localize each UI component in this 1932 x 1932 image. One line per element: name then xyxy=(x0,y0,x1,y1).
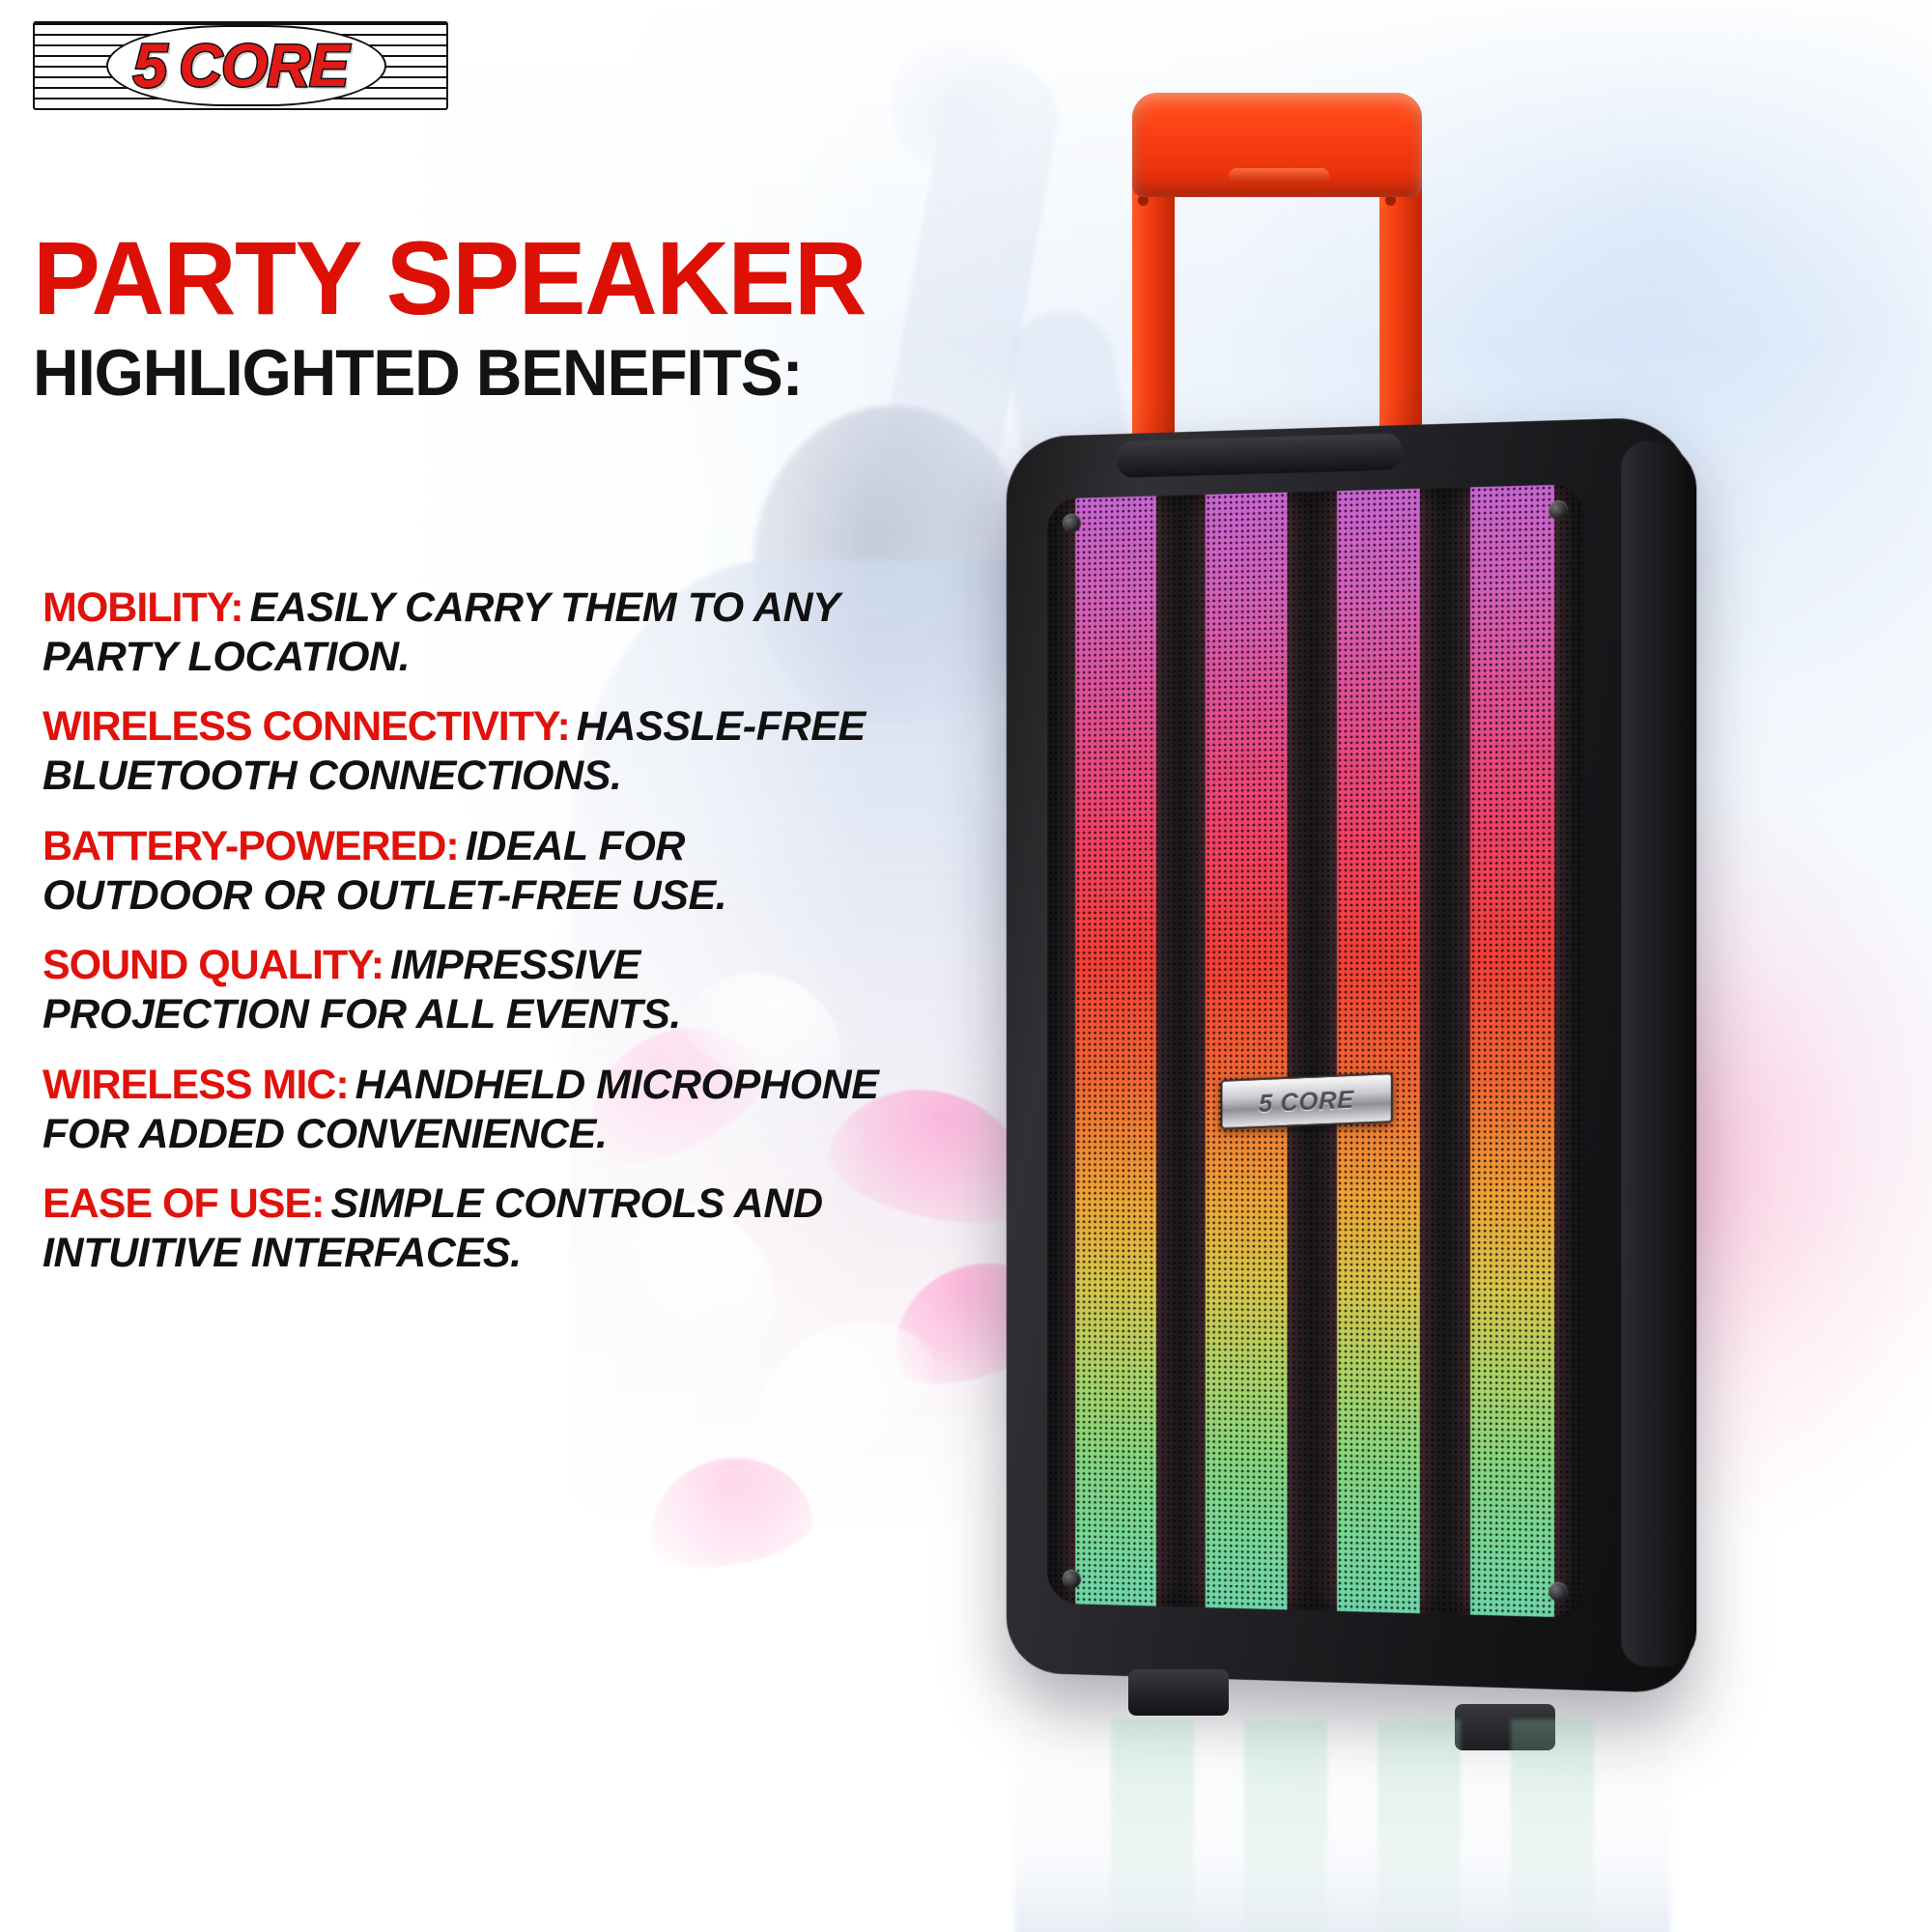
grille-screw xyxy=(1063,1569,1081,1588)
page-subtitle: HIGHLIGHTED BENEFITS: xyxy=(33,340,876,406)
cabinet-top-vent xyxy=(1117,433,1403,478)
benefit-item-wireless-mic: WIRELESS MIC:HANDHELD MICROPHONE FOR ADD… xyxy=(43,1061,893,1158)
led-light-bar xyxy=(1337,489,1420,1613)
handle-leg-left xyxy=(1132,174,1175,444)
benefit-item-sound-quality: SOUND QUALITY:IMPRESSIVE PROJECTION FOR … xyxy=(43,941,893,1038)
handle-leg-right xyxy=(1379,174,1422,444)
page-title: PARTY SPEAKER xyxy=(33,228,876,328)
grille-mesh-texture xyxy=(1075,496,1156,1605)
speaker-cabinet: 5 CORE xyxy=(1007,416,1692,1693)
benefit-item-battery-powered: BATTERY-POWERED:IDEAL FOR OUTDOOR OR OUT… xyxy=(43,822,893,920)
benefit-label: MOBILITY: xyxy=(43,584,243,631)
product-speaker-image: 5 CORE xyxy=(1024,77,1700,1835)
grille-mesh-texture xyxy=(1206,493,1288,1610)
benefit-item-wireless-connectivity: WIRELESS CONNECTIVITY:HASSLE-FREE BLUETO… xyxy=(43,702,893,800)
logo-word: CORE xyxy=(179,32,348,100)
logo-text: 5 CORE xyxy=(33,21,448,110)
benefit-label: BATTERY-POWERED: xyxy=(43,823,459,869)
led-light-bar xyxy=(1206,493,1288,1610)
benefit-label: SOUND QUALITY: xyxy=(43,942,384,988)
product-badge-text: 5 CORE xyxy=(1259,1084,1354,1118)
benefit-item-ease-of-use: EASE OF USE:SIMPLE CONTROLS AND INTUITIV… xyxy=(43,1179,893,1277)
led-light-bar xyxy=(1470,485,1554,1617)
brand-logo: 5 CORE xyxy=(33,21,448,110)
benefit-item-mobility: MOBILITY:EASILY CARRY THEM TO ANY PARTY … xyxy=(43,583,893,681)
benefit-label: WIRELESS MIC: xyxy=(43,1062,349,1108)
benefits-list: MOBILITY:EASILY CARRY THEM TO ANY PARTY … xyxy=(43,583,893,1299)
benefit-label: EASE OF USE: xyxy=(43,1180,324,1227)
grille-mesh-texture xyxy=(1470,485,1554,1617)
logo-digit: 5 xyxy=(133,30,167,101)
product-badge: 5 CORE xyxy=(1220,1072,1392,1129)
heading-block: PARTY SPEAKER HIGHLIGHTED BENEFITS: xyxy=(33,228,902,406)
grille-screw xyxy=(1548,1581,1568,1602)
floor-reflection-bars xyxy=(1082,1719,1623,1932)
led-light-bar xyxy=(1075,496,1156,1605)
speaker-foot xyxy=(1128,1669,1229,1716)
cabinet-side-panel xyxy=(1621,440,1696,1668)
speaker-grille xyxy=(1047,484,1583,1618)
trolley-handle-grip xyxy=(1132,93,1422,197)
benefit-label: WIRELESS CONNECTIVITY: xyxy=(43,703,570,750)
grille-mesh-texture xyxy=(1337,489,1420,1613)
grille-screw xyxy=(1548,500,1568,521)
